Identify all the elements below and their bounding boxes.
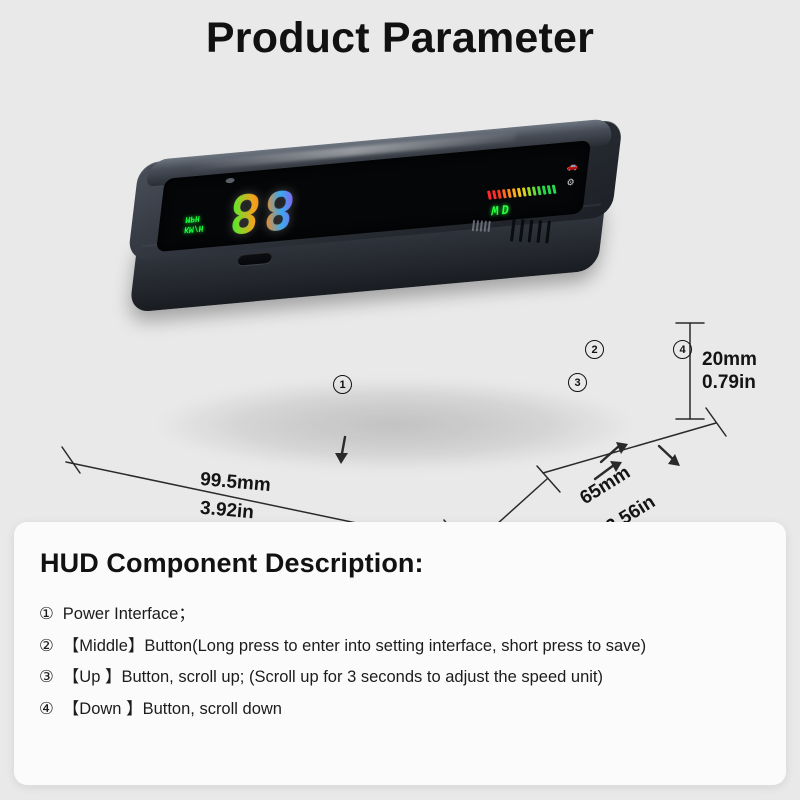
page-title: Product Parameter — [0, 14, 800, 63]
side-buttons — [472, 220, 491, 232]
item-marker: ② — [39, 638, 54, 655]
engine-icon: ⚙ — [566, 178, 575, 188]
item-marker: ④ — [39, 701, 54, 718]
width-in-label: 3.92in — [199, 498, 255, 525]
height-label: 20mm 0.79in — [702, 348, 757, 394]
unit-primary-label: KM/H — [184, 224, 204, 234]
vent-slots — [510, 219, 551, 243]
tachometer-bar — [487, 185, 556, 200]
product-hero: KM/H MPH 88 WD — [0, 90, 800, 510]
callout-marker-3: 3 — [568, 373, 587, 392]
height-mm-label: 20mm — [702, 348, 757, 371]
width-mm-label: 99.5mm — [199, 469, 271, 497]
item-text: Power Interface； — [63, 606, 195, 623]
description-item: ② 【Middle】Button(Long press to enter int… — [39, 638, 772, 655]
car-icon: 🚗 — [566, 161, 578, 171]
item-text: 【Down 】Button, scroll down — [63, 701, 282, 718]
item-marker: ① — [39, 606, 54, 623]
callout-marker-1: 1 — [333, 375, 352, 394]
callout-marker-4: 4 — [673, 340, 692, 359]
description-heading: HUD Component Description: — [40, 548, 424, 579]
speed-unit-labels: KM/H MPH — [184, 213, 205, 233]
hud-component-description-card: HUD Component Description: ① Power Inter… — [14, 522, 786, 785]
item-marker: ③ — [39, 669, 54, 686]
hud-device: KM/H MPH 88 WD — [118, 138, 638, 378]
height-in-label: 0.79in — [702, 371, 757, 394]
callout-marker-2: 2 — [585, 340, 604, 359]
device-floor-shadow — [160, 380, 630, 470]
item-text: 【Up 】Button, scroll up; (Scroll up for 3… — [63, 669, 603, 686]
description-item: ④ 【Down 】Button, scroll down — [39, 701, 772, 718]
description-item: ① Power Interface； — [39, 606, 772, 623]
gear-indicator: WD — [491, 202, 513, 218]
unit-secondary-label: MPH — [185, 213, 205, 223]
description-item: ③ 【Up 】Button, scroll up; (Scroll up for… — [39, 669, 772, 686]
product-parameter-page: Product Parameter KM/H MPH — [0, 0, 800, 800]
speed-value: 88 — [227, 181, 302, 240]
item-text: 【Middle】Button(Long press to enter into … — [63, 638, 646, 655]
description-list: ① Power Interface； ② 【Middle】Button(Long… — [39, 606, 772, 732]
